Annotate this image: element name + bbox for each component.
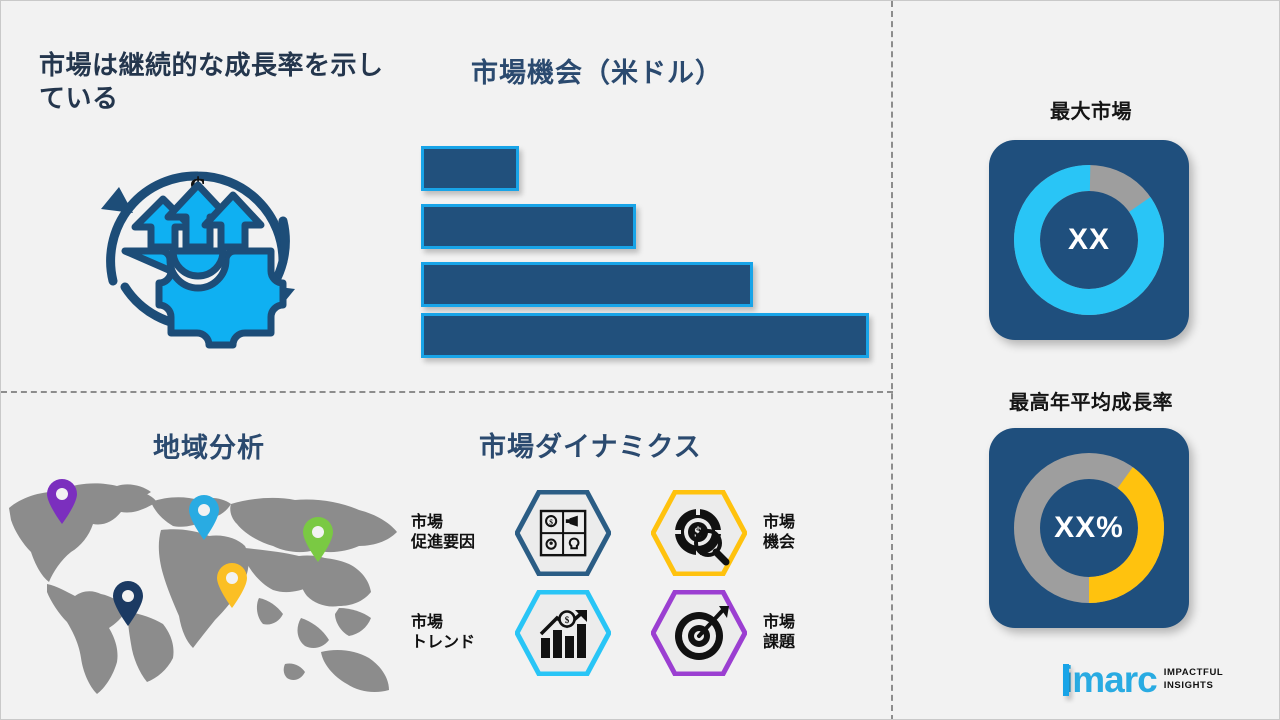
vertical-divider (891, 1, 893, 720)
dynamics-item-challenges[interactable]: 市場 課題 (651, 590, 851, 676)
dynamics-item-drivers[interactable]: 市場 促進要因 $ (411, 490, 611, 576)
infographic-slide: 市場は継続的な成長率を示している $ 市場機会（米ドル） 地域分析 (0, 0, 1280, 720)
highest-cagr-card: XX% (989, 428, 1189, 628)
market-opportunity-bar-chart (421, 146, 881, 351)
svg-text:$: $ (549, 517, 553, 526)
dynamics-label-opportunities: 市場 機会 (763, 513, 851, 553)
pin-africa (215, 562, 249, 608)
pin-north-america (45, 478, 79, 524)
world-map (1, 456, 401, 696)
dynamics-label-trends: 市場 トレンド (411, 613, 499, 653)
growth-headline: 市場は継続的な成長率を示している (39, 49, 389, 116)
logo-divider (1063, 664, 1069, 696)
puzzle-pieces-icon: $ (515, 490, 611, 576)
target-dart-icon (651, 590, 747, 676)
dynamics-label-drivers: 市場 促進要因 (411, 513, 499, 553)
magnifier-dollar-icon: $ (651, 490, 747, 576)
largest-market-card: XX (989, 140, 1189, 340)
dynamics-label-challenges: 市場 課題 (763, 613, 851, 653)
dynamics-item-opportunities[interactable]: $ 市場 機会 (651, 490, 851, 576)
imarc-logo: imarc IMPACTFUL INSIGHTS (1063, 663, 1223, 696)
highest-cagr-title: 最高年平均成長率 (986, 386, 1196, 415)
bar-4 (421, 313, 869, 358)
largest-market-value: XX (1068, 223, 1110, 257)
largest-market-title: 最大市場 (986, 95, 1196, 124)
bar-chart-arrow-icon: $ (515, 590, 611, 676)
highest-cagr-value: XX% (1054, 511, 1124, 545)
svg-text:$: $ (565, 615, 570, 625)
pin-east-asia (301, 516, 335, 562)
bar-2 (421, 204, 636, 249)
growth-cycle-gear-icon: $ (73, 129, 323, 369)
bar-1 (421, 146, 519, 191)
market-opportunity-title: 市場機会（米ドル） (471, 51, 723, 90)
pin-europe (187, 494, 221, 540)
logo-wordmark: imarc (1063, 663, 1157, 696)
dynamics-item-trends[interactable]: 市場 トレンド $ (411, 590, 611, 676)
horizontal-divider (1, 391, 893, 393)
logo-tagline-line1: IMPACTFUL (1164, 667, 1224, 678)
pin-south-america (111, 580, 145, 626)
bar-3 (421, 262, 753, 307)
logo-tagline: IMPACTFUL INSIGHTS (1164, 667, 1224, 693)
market-dynamics-title: 市場ダイナミクス (479, 425, 702, 464)
logo-tagline-line2: INSIGHTS (1164, 680, 1214, 691)
